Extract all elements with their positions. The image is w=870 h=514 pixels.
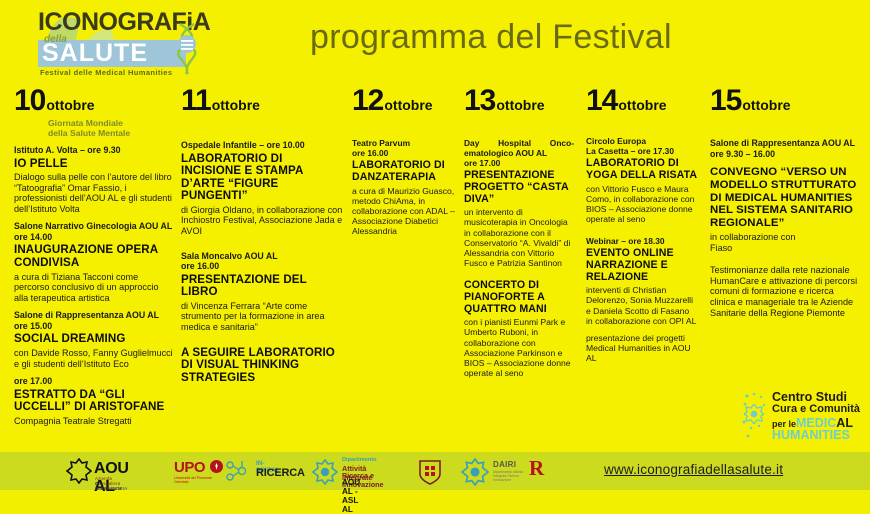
event-description: interventi di Christian Delorenzo, Sonia… xyxy=(586,285,698,325)
event-description: di Giorgia Oldano, in collaborazione con… xyxy=(181,205,343,237)
event-item: presentazione dei progetti Medical Human… xyxy=(586,333,698,363)
day-number: 10 xyxy=(14,86,45,116)
event-venue: Salone di Rappresentanza AOU AL ore 9.30… xyxy=(710,138,860,159)
event-title: LABORATORIO DI DANZATERAPIA xyxy=(352,160,456,184)
day-heading: 10ottobre xyxy=(14,86,174,116)
centro-line-1: Centro Studi xyxy=(772,390,847,404)
poster-header: ICONOGRAFiA della SALUTE Festival delle … xyxy=(0,0,870,82)
event-venue: Istituto A. Volta – ore 9.30 xyxy=(14,145,174,156)
event-title: CONCERTO DI PIANOFORTE A QUATTRO MANI xyxy=(464,280,574,315)
day-heading: 14ottobre xyxy=(586,86,698,116)
website-url-link[interactable]: www.iconografiadellasalute.it xyxy=(604,462,783,477)
event-venue: ore 17.00 xyxy=(14,376,174,387)
flower-star-icon xyxy=(744,404,764,424)
event-item: ore 17.00 ESTRATTO DA “GLI UCCELLI” DI A… xyxy=(14,376,174,426)
logo-ricerca-line2: RICERCA xyxy=(256,467,305,479)
day-month: ottobre xyxy=(45,97,94,113)
logo-infrastruttura-ricerca: IN-SPIRAL RICERCA xyxy=(226,460,254,494)
logo-upo-text: UPO xyxy=(174,459,205,476)
event-description: Compagnia Teatrale Stregatti xyxy=(14,416,174,427)
logo-dairi-sub: Dipartimento Attività Integrate Ricerca … xyxy=(493,470,525,483)
event-item: Ospedale Infantile – ore 10.00 LABORATOR… xyxy=(181,140,343,237)
logo-upo: UPO Università del Piemonte Orientale xyxy=(174,459,205,493)
logo-dip-line4: AOU AL - ASL AL xyxy=(342,478,360,514)
network-nodes-icon xyxy=(226,460,254,482)
event-description: presentazione dei progetti Medical Human… xyxy=(586,333,698,363)
event-item: Webinar – ore 18.30 EVENTO ONLINE NARRAZ… xyxy=(586,236,698,326)
event-title: LABORATORIO DI INCISIONE E STAMPA D’ARTE… xyxy=(181,153,343,203)
day-number: 14 xyxy=(586,86,617,116)
star-burst-icon xyxy=(312,459,338,485)
event-item: CONCERTO DI PIANOFORTE A QUATTRO MANI co… xyxy=(464,280,574,378)
event-venue: Ospedale Infantile – ore 10.00 xyxy=(181,140,343,151)
footer-logo-strip: AOU AL Azienda Ospedaliera Universitaria… xyxy=(66,454,536,488)
day-number: 12 xyxy=(352,86,383,116)
logo-upo-sub: Università del Piemonte Orientale xyxy=(174,476,222,485)
day-number: 11 xyxy=(181,86,211,116)
event-venue: Day Hospital Onco-ematologico AOU AL ore… xyxy=(464,138,574,168)
page-title: programma del Festival xyxy=(310,18,672,57)
festival-poster: ICONOGRAFiA della SALUTE Festival delle … xyxy=(0,0,870,490)
event-item: Istituto A. Volta – ore 9.30 IO PELLE Di… xyxy=(14,145,174,214)
centro-line-2: Cura e Comunità xyxy=(772,403,860,415)
day-column-12: 12ottobre Teatro Parvum ore 16.00 LABORA… xyxy=(352,86,456,236)
logo-dairi-r: R xyxy=(529,456,544,481)
day-note: Giornata Mondiale della Salute Mentale xyxy=(48,118,174,138)
event-title: IO PELLE xyxy=(14,158,174,171)
event-description: di Vincenza Ferrara “Arte come strumento… xyxy=(181,301,343,333)
logo-dairi: DAIRI Dipartimento Attività Integrate Ri… xyxy=(461,458,489,492)
event-title: LABORATORIO DI YOGA DELLA RISATA xyxy=(586,158,698,182)
event-venue: Salone di Rappresentanza AOU AL ore 15.0… xyxy=(14,310,174,331)
event-title: PRESENTAZIONE PROGETTO “CASTA DIVA” xyxy=(464,170,574,205)
event-description: in collaborazione con Fiaso xyxy=(710,232,860,253)
event-venue: Teatro Parvum ore 16.00 xyxy=(352,138,456,158)
logo-aou-al: AOU AL Azienda Ospedaliera Universitaria… xyxy=(66,458,92,492)
day-month: ottobre xyxy=(741,97,790,113)
day-number: 13 xyxy=(464,86,495,116)
event-title: EVENTO ONLINE NARRAZIONE E RELAZIONE xyxy=(586,248,698,283)
event-title: A SEGUIRE LABORATORIO DI VISUAL THINKING… xyxy=(181,347,343,385)
event-title: INAUGURAZIONE OPERA CONDIVISA xyxy=(14,244,174,269)
day-month: ottobre xyxy=(617,97,666,113)
day-column-14: 14ottobre Circolo Europa La Casetta – or… xyxy=(586,86,698,363)
logo-dairi-text: DAIRI xyxy=(493,460,516,469)
logo-regione-piemonte xyxy=(418,459,442,493)
event-venue: Circolo Europa La Casetta – ore 17.30 xyxy=(586,136,698,156)
day-month: ottobre xyxy=(383,97,432,113)
event-item: Teatro Parvum ore 16.00 LABORATORIO DI D… xyxy=(352,138,456,236)
logo-dipartimento: Dipartimento Attività Integrate Ricerca … xyxy=(312,457,338,491)
day-number: 15 xyxy=(710,86,741,116)
day-column-15: 15ottobre Salone di Rappresentanza AOU A… xyxy=(710,86,860,318)
logo-line-salute: SALUTE xyxy=(42,40,148,67)
event-venue: Webinar – ore 18.30 xyxy=(586,236,698,246)
day-month: ottobre xyxy=(211,97,260,113)
event-description: Dialogo sulla pelle con l’autore del lib… xyxy=(14,172,174,214)
event-item: A SEGUIRE LABORATORIO DI VISUAL THINKING… xyxy=(181,347,343,385)
star-burst-icon xyxy=(461,458,489,486)
event-title: PRESENTAZIONE DEL LIBRO xyxy=(181,274,343,299)
festival-logo: ICONOGRAFiA della SALUTE Festival delle … xyxy=(26,6,204,78)
event-item: Salone Narrativo Ginecologia AOU AL ore … xyxy=(14,221,174,303)
event-description: a cura di Maurizio Guasco, metodo ChiAma… xyxy=(352,186,456,236)
event-venue: Sala Moncalvo AOU AL ore 16.00 xyxy=(181,251,343,272)
day-column-10: 10ottobre Giornata Mondiale della Salute… xyxy=(14,86,174,427)
event-description: Testimonianze dalla rete nazionale Human… xyxy=(710,265,860,318)
day-heading: 12ottobre xyxy=(352,86,456,116)
day-column-13: 13ottobre Day Hospital Onco-ematologico … xyxy=(464,86,574,378)
event-item: Salone di Rappresentanza AOU AL ore 15.0… xyxy=(14,310,174,369)
event-description: a cura di Tiziana Tacconi come percorso … xyxy=(14,272,174,304)
event-description: un intervento di musicoterapia in Oncolo… xyxy=(464,207,574,268)
dna-helix-icon xyxy=(174,22,200,76)
event-description: con Vittorio Fusco e Maura Como, in coll… xyxy=(586,184,698,224)
program-columns: 10ottobre Giornata Mondiale della Salute… xyxy=(0,86,870,446)
upo-dot-icon xyxy=(210,460,223,473)
day-heading: 11ottobre xyxy=(181,86,343,116)
event-description: con i pianisti Eunmi Park e Umberto Rubo… xyxy=(464,317,574,378)
star-burst-icon xyxy=(66,458,92,484)
event-item: Circolo Europa La Casetta – ore 17.30 LA… xyxy=(586,136,698,224)
event-description: con Davide Rosso, Fanny Guglielmucci e g… xyxy=(14,348,174,369)
event-item: Salone di Rappresentanza AOU AL ore 9.30… xyxy=(710,138,860,253)
event-item: Testimonianze dalla rete nazionale Human… xyxy=(710,265,860,318)
centro-studi-logo: Centro Studi Cura e Comunità per leMEDIC… xyxy=(742,388,862,444)
day-column-11: 11ottobre Ospedale Infantile – ore 10.00… xyxy=(181,86,343,384)
day-heading: 13ottobre xyxy=(464,86,574,116)
centro-line-4: HUMANITIES xyxy=(772,428,850,442)
logo-subtitle: Festival delle Medical Humanities xyxy=(40,68,172,77)
logo-dip-line1: Dipartimento xyxy=(342,457,377,463)
event-venue: Salone Narrativo Ginecologia AOU AL ore … xyxy=(14,221,174,242)
event-item: Day Hospital Onco-ematologico AOU AL ore… xyxy=(464,138,574,268)
day-heading: 15ottobre xyxy=(710,86,860,116)
event-item: Sala Moncalvo AOU AL ore 16.00 PRESENTAZ… xyxy=(181,251,343,333)
event-title: ESTRATTO DA “GLI UCCELLI” DI ARISTOFANE xyxy=(14,389,174,414)
event-title: SOCIAL DREAMING xyxy=(14,333,174,346)
event-title: CONVEGNO “VERSO UN MODELLO STRUTTURATO D… xyxy=(710,166,860,230)
shield-icon xyxy=(418,459,442,485)
day-month: ottobre xyxy=(495,97,544,113)
